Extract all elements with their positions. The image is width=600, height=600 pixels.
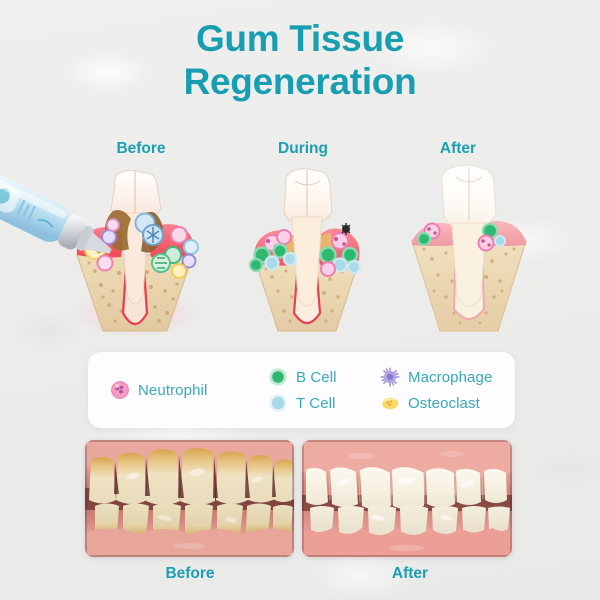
photo-label-after: After: [330, 565, 490, 583]
photo-after: [302, 440, 512, 557]
photo-before: [85, 440, 294, 557]
legend-label-b-cell: B Cell: [296, 369, 337, 386]
legend-label-osteoclast: Osteoclast: [408, 395, 480, 412]
legend-label-neutrophil: Neutrophil: [138, 382, 207, 399]
cell-type-legend-card: Neutrophil B Cell: [88, 352, 515, 428]
b-cell-icon: [268, 367, 288, 387]
legend-item-neutrophil[interactable]: Neutrophil: [110, 380, 268, 400]
legend-item-osteoclast[interactable]: Osteoclast: [380, 393, 509, 413]
t-cell-icon: [268, 393, 288, 413]
stage-label-before: Before: [81, 140, 201, 158]
page-title-line-1: Gum Tissue: [196, 18, 404, 59]
stage-label-during: During: [243, 140, 363, 158]
legend-item-b-cell[interactable]: B Cell: [268, 367, 380, 387]
legend-label-t-cell: T Cell: [296, 395, 336, 412]
stage-label-after: After: [398, 140, 518, 158]
healthy-pink-gums-photo: [302, 440, 512, 557]
legend-item-t-cell[interactable]: T Cell: [268, 393, 380, 413]
diagram-after: [390, 163, 548, 335]
neutrophil-cell-icon: [110, 380, 130, 400]
gel-pen-applicator: [0, 158, 157, 263]
receded-stained-gums-photo: [85, 440, 294, 557]
diagram-during: [232, 163, 382, 335]
healing-gum-diagram-icon: [232, 163, 382, 335]
page-title-line-2: Regeneration: [0, 61, 600, 104]
legend-item-macrophage[interactable]: Macrophage: [380, 367, 509, 387]
macrophage-cell-icon: [380, 367, 400, 387]
page-title: Gum Tissue Regeneration: [0, 18, 600, 104]
osteoclast-cell-icon: [380, 393, 400, 413]
photo-label-before: Before: [110, 565, 270, 583]
legend-label-macrophage: Macrophage: [408, 369, 492, 386]
gum-regeneration-poster: Gum Tissue Regeneration Before During Af…: [0, 0, 600, 600]
applicator-pen-icon: [0, 158, 157, 263]
healthy-gum-diagram-icon: [390, 163, 548, 335]
